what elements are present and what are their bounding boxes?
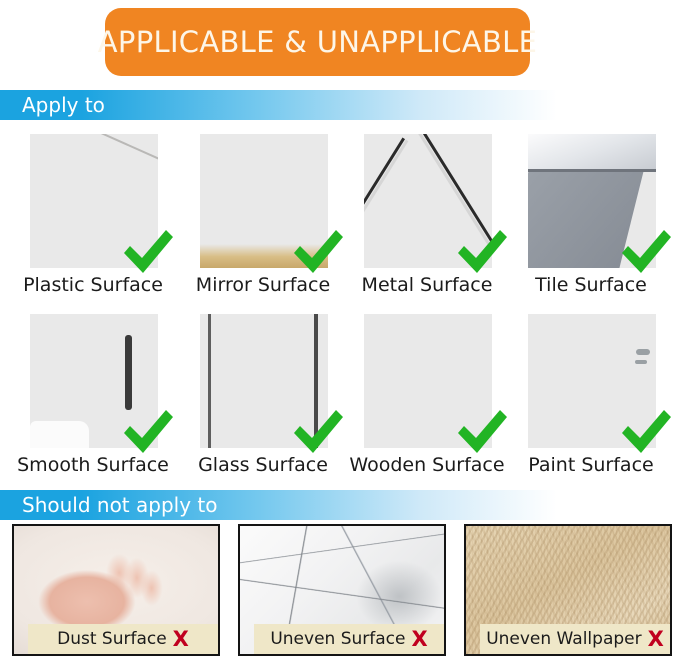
apply-item-wooden[interactable]: Wooden Surface [342, 308, 512, 488]
deny-item-uneven-wallpaper[interactable]: Uneven Wallpaper X [464, 524, 672, 656]
title-banner: APPLICABLE & UNAPPLICABLE [105, 8, 530, 76]
mirror-surface-thumbnail [200, 134, 328, 268]
smooth-surface-thumbnail [30, 314, 158, 448]
deny-item-label: Uneven Wallpaper [486, 629, 641, 649]
section-header-should-not-apply-to: Should not apply to [0, 490, 679, 520]
red-x-icon: X [648, 629, 664, 650]
section-header-should-not-apply-to-label: Should not apply to [0, 493, 217, 517]
deny-item-label: Uneven Surface [270, 629, 405, 649]
red-x-icon: X [411, 629, 427, 650]
apply-item-label: Metal Surface [342, 274, 512, 296]
apply-item-plastic[interactable]: Plastic Surface [8, 128, 178, 308]
should-not-apply-grid: Dust Surface X Uneven Surface X Uneven W… [0, 524, 679, 660]
apply-item-label: Smooth Surface [8, 454, 178, 476]
plastic-surface-thumbnail [30, 134, 158, 268]
paint-surface-thumbnail [528, 314, 656, 448]
apply-item-label: Tile Surface [506, 274, 676, 296]
apply-item-paint[interactable]: Paint Surface [506, 308, 676, 488]
red-x-icon: X [173, 629, 189, 650]
apply-item-label: Paint Surface [506, 454, 676, 476]
apply-item-label: Mirror Surface [178, 274, 348, 296]
deny-item-label: Dust Surface [57, 629, 167, 649]
section-header-apply-to: Apply to [0, 90, 679, 120]
apply-item-mirror[interactable]: Mirror Surface [178, 128, 348, 308]
metal-surface-thumbnail [364, 134, 492, 268]
deny-item-label-bar: Uneven Surface X [254, 624, 444, 654]
apply-item-label: Glass Surface [178, 454, 348, 476]
apply-to-grid: Plastic Surface Mirror Surface Metal Sur… [0, 128, 679, 488]
deny-item-uneven-surface[interactable]: Uneven Surface X [238, 524, 446, 656]
deny-item-dust[interactable]: Dust Surface X [12, 524, 220, 656]
apply-item-metal[interactable]: Metal Surface [342, 128, 512, 308]
apply-item-glass[interactable]: Glass Surface [178, 308, 348, 488]
page-title: APPLICABLE & UNAPPLICABLE [98, 25, 537, 59]
section-header-apply-to-label: Apply to [0, 93, 105, 117]
apply-to-row-2: Smooth Surface Glass Surface Wooden Surf… [0, 308, 679, 488]
apply-item-tile[interactable]: Tile Surface [506, 128, 676, 308]
apply-item-label: Wooden Surface [342, 454, 512, 476]
apply-item-label: Plastic Surface [8, 274, 178, 296]
wooden-surface-thumbnail [364, 314, 492, 448]
tile-surface-thumbnail [528, 134, 656, 268]
deny-item-label-bar: Dust Surface X [28, 624, 218, 654]
deny-item-label-bar: Uneven Wallpaper X [480, 624, 670, 654]
apply-to-row-1: Plastic Surface Mirror Surface Metal Sur… [0, 128, 679, 308]
glass-surface-thumbnail [200, 314, 328, 448]
apply-item-smooth[interactable]: Smooth Surface [8, 308, 178, 488]
